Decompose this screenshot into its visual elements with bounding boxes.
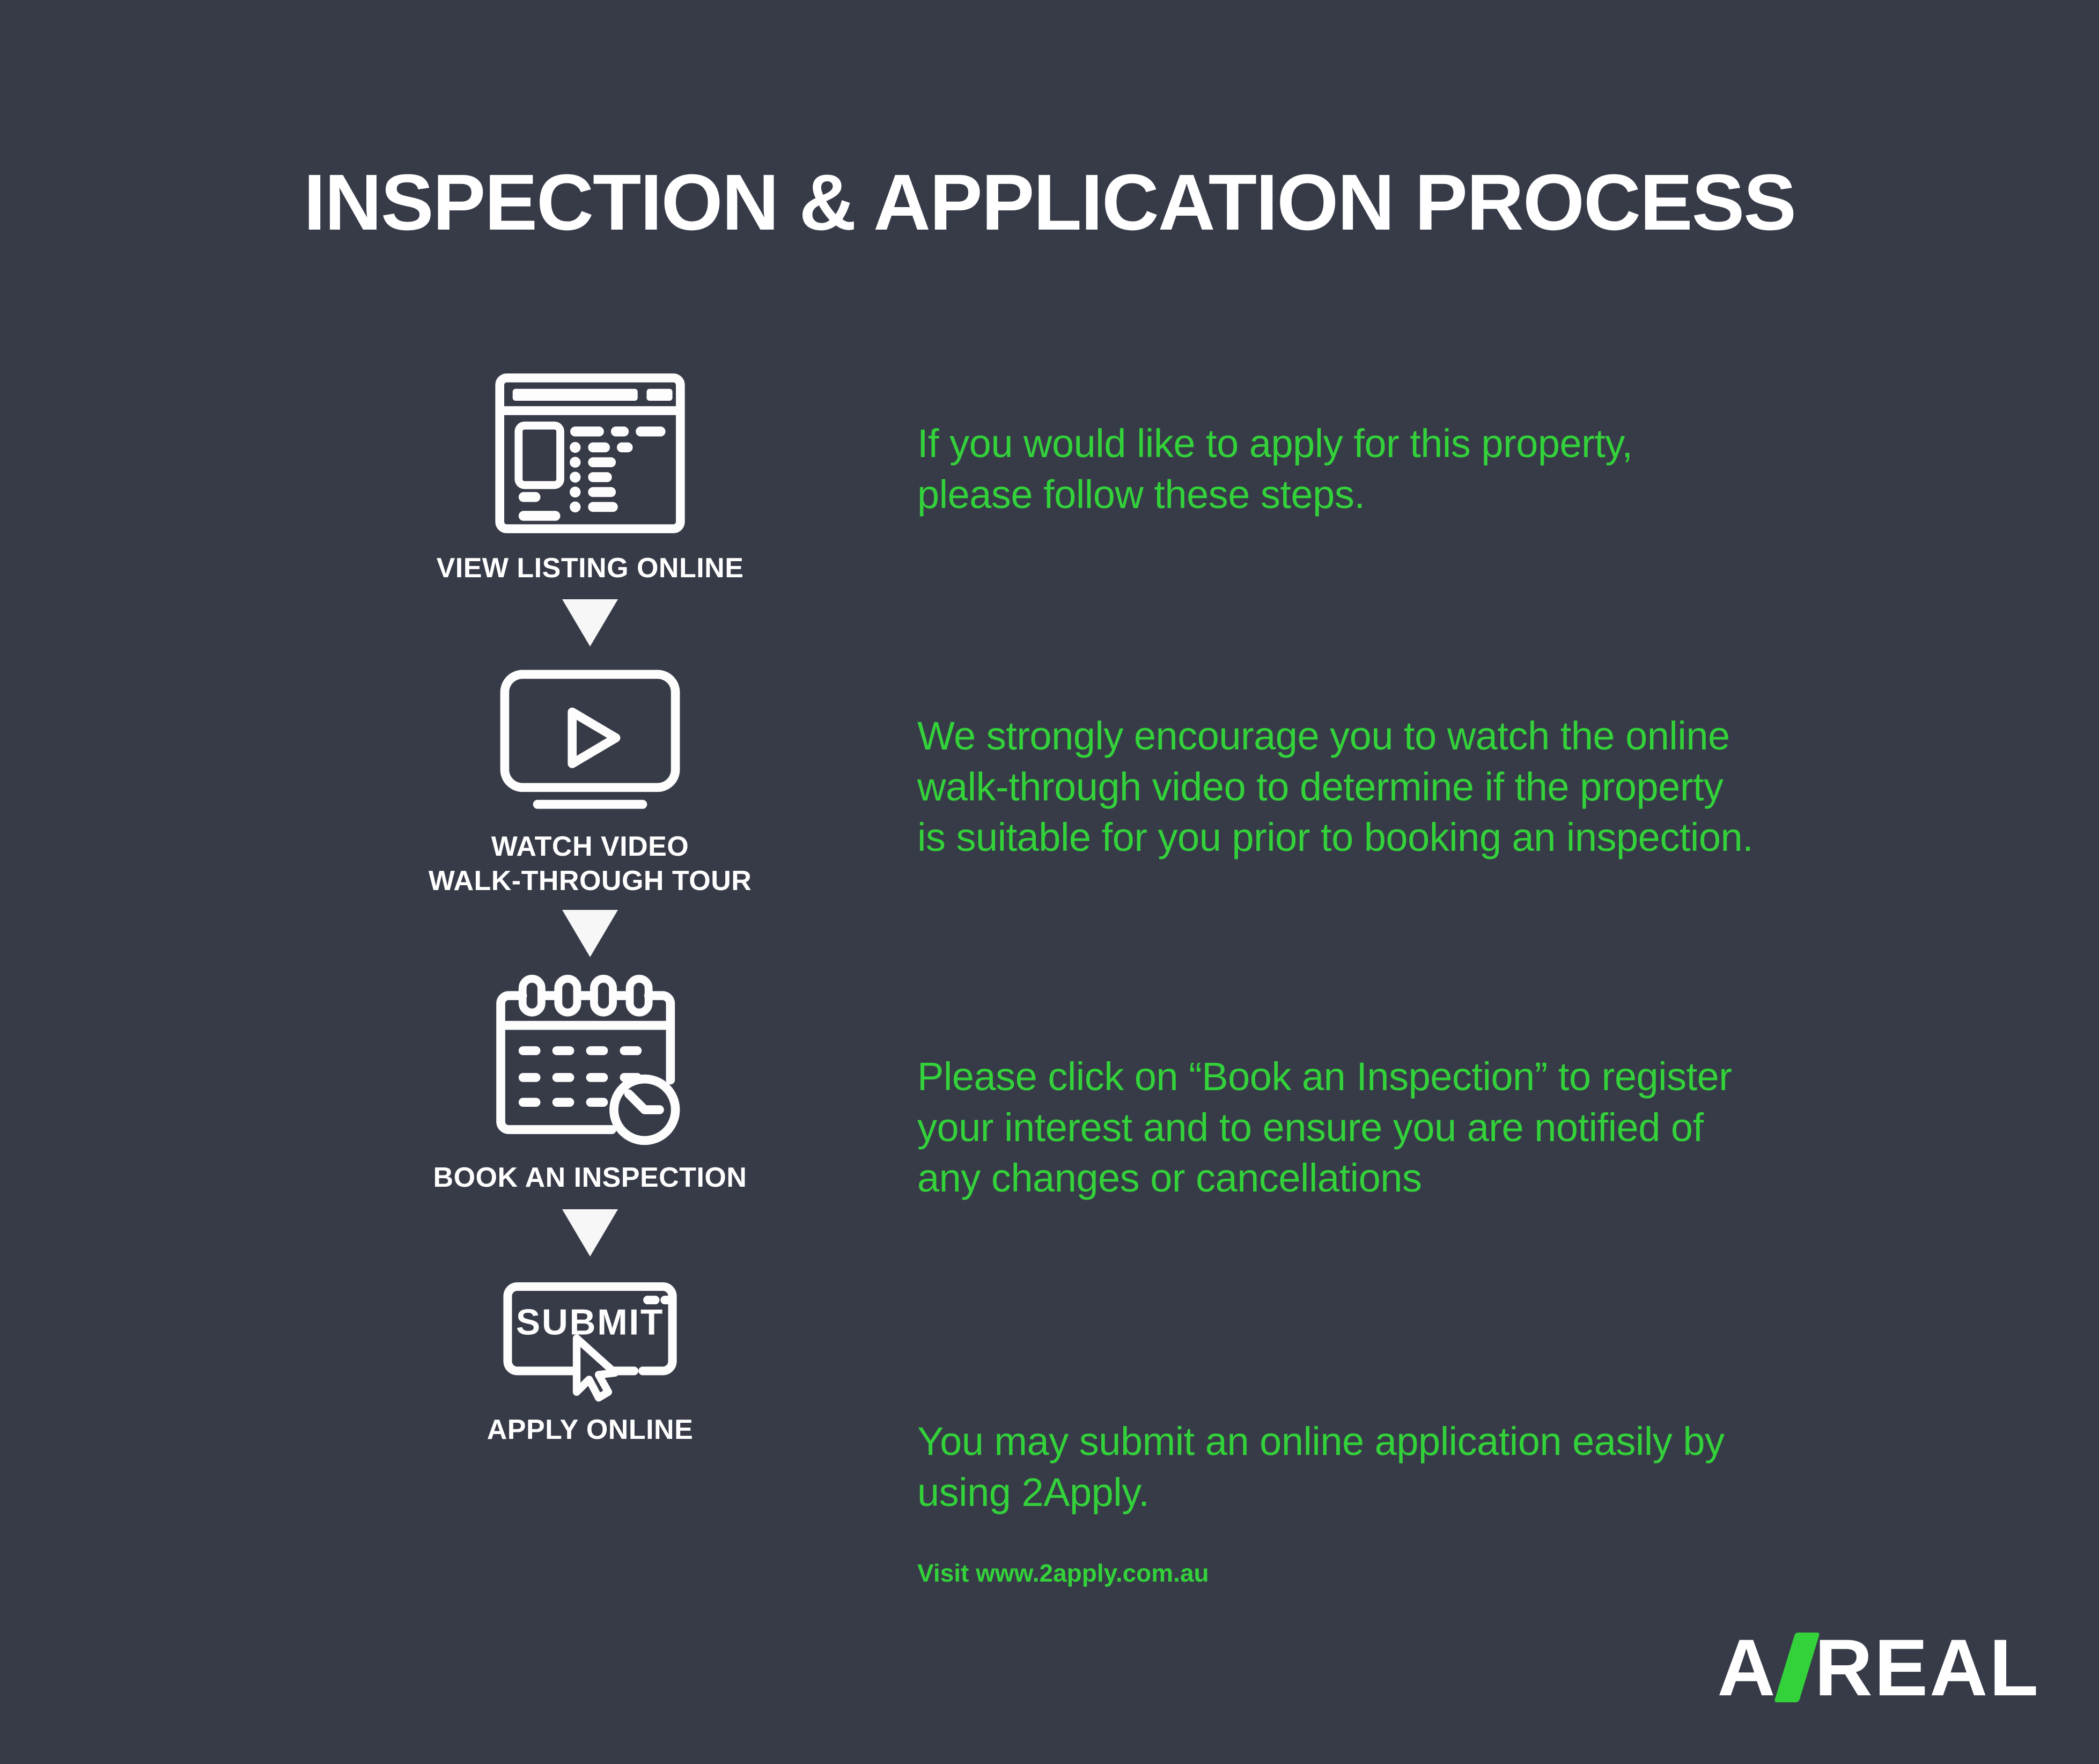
step-label: WATCH VIDEO WALK-THROUGH TOUR <box>343 830 837 898</box>
browser-listing-icon <box>491 365 689 542</box>
step-description-2: We strongly encourage you to watch the o… <box>917 711 1926 863</box>
arrow-down-2 <box>343 910 837 957</box>
step-view-listing-online: VIEW LISTING ONLINE <box>343 365 837 585</box>
calendar-clock-icon <box>491 969 689 1151</box>
logo-text-a: A <box>1717 1627 1777 1708</box>
steps-column: VIEW LISTING ONLINE WATCH VIDEO WALK-THR… <box>343 365 837 1447</box>
submit-button-cursor-icon: SUBMIT <box>491 1269 689 1403</box>
step-description-4: You may submit an online application eas… <box>917 1416 1915 1518</box>
svg-text:SUBMIT: SUBMIT <box>516 1302 664 1342</box>
infographic-poster: INSPECTION & APPLICATION PROCESS <box>0 0 2099 1764</box>
arrow-down-icon <box>562 910 618 957</box>
step-description-3: Please click on “Book an Inspection” to … <box>917 1052 1915 1204</box>
arrow-down-icon <box>562 1209 618 1256</box>
visit-link[interactable]: Visit www.2apply.com.au <box>917 1559 1209 1587</box>
logo-text-real: REAL <box>1815 1627 2040 1708</box>
step-apply-online: SUBMIT APPLY ONLINE <box>343 1269 837 1447</box>
step-watch-video: WATCH VIDEO WALK-THROUGH TOUR <box>343 659 837 898</box>
step-book-inspection: BOOK AN INSPECTION <box>343 969 837 1195</box>
video-play-monitor-icon <box>491 659 689 820</box>
step-label: VIEW LISTING ONLINE <box>343 552 837 585</box>
arrow-down-3 <box>343 1209 837 1256</box>
step-label: APPLY ONLINE <box>343 1413 837 1447</box>
arrow-down-1 <box>343 599 837 646</box>
arrow-down-icon <box>562 599 618 646</box>
page-title: INSPECTION & APPLICATION PROCESS <box>0 161 2099 244</box>
step-description-1: If you would like to apply for this prop… <box>917 418 1915 520</box>
logo-slash-icon <box>1774 1633 1820 1702</box>
step-label: BOOK AN INSPECTION <box>343 1161 837 1195</box>
brand-logo: A REAL <box>1717 1627 2040 1708</box>
